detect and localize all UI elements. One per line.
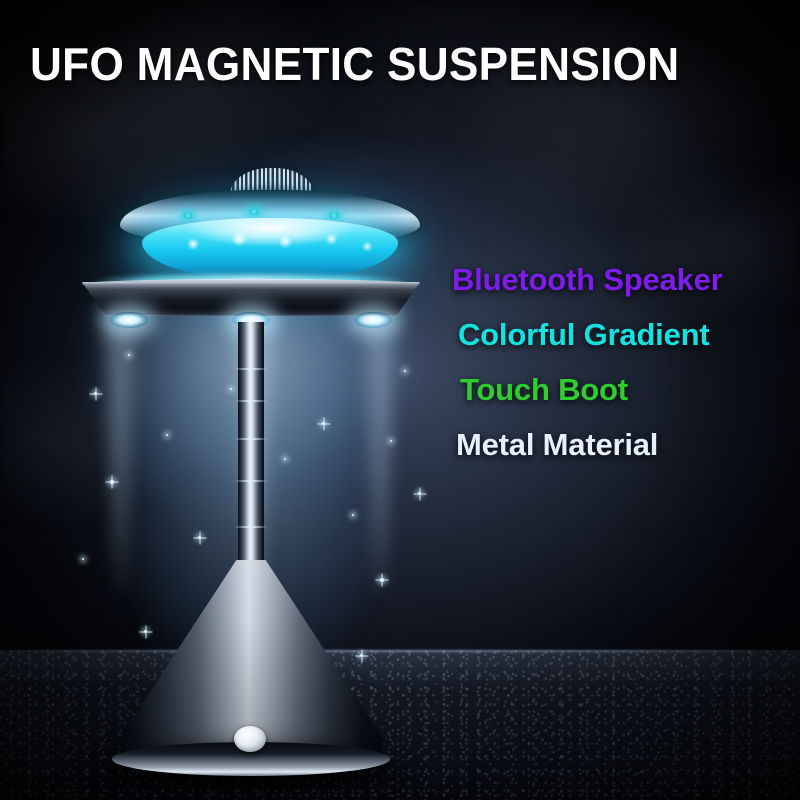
column-seam xyxy=(234,526,268,528)
touch-boot-button[interactable] xyxy=(234,726,266,752)
platform-led-right xyxy=(354,312,392,328)
saucer-led-left xyxy=(182,212,194,219)
column-seam xyxy=(234,480,268,482)
metal-column xyxy=(238,322,264,572)
feature-list: Bluetooth Speaker Colorful Gradient Touc… xyxy=(452,252,722,472)
advertisement-image: UFO MAGNETIC SUSPENSION Bluetooth Speake… xyxy=(0,0,800,800)
ufo-saucer xyxy=(120,168,420,286)
column-seam xyxy=(234,368,268,370)
column-seam xyxy=(234,400,268,402)
feature-colorful-gradient: Colorful Gradient xyxy=(458,307,722,362)
feature-bluetooth-speaker: Bluetooth Speaker xyxy=(452,252,722,307)
platform-led-left xyxy=(110,312,148,328)
feature-metal-material: Metal Material xyxy=(456,417,722,472)
saucer-led-right xyxy=(328,212,340,219)
saucer-underglow xyxy=(142,218,398,280)
levitation-platform xyxy=(82,282,420,326)
page-title: UFO MAGNETIC SUSPENSION xyxy=(30,38,760,90)
platform-body xyxy=(82,282,420,316)
feature-touch-boot: Touch Boot xyxy=(460,362,722,417)
column-seam xyxy=(234,438,268,440)
saucer-led-mid xyxy=(248,208,260,215)
